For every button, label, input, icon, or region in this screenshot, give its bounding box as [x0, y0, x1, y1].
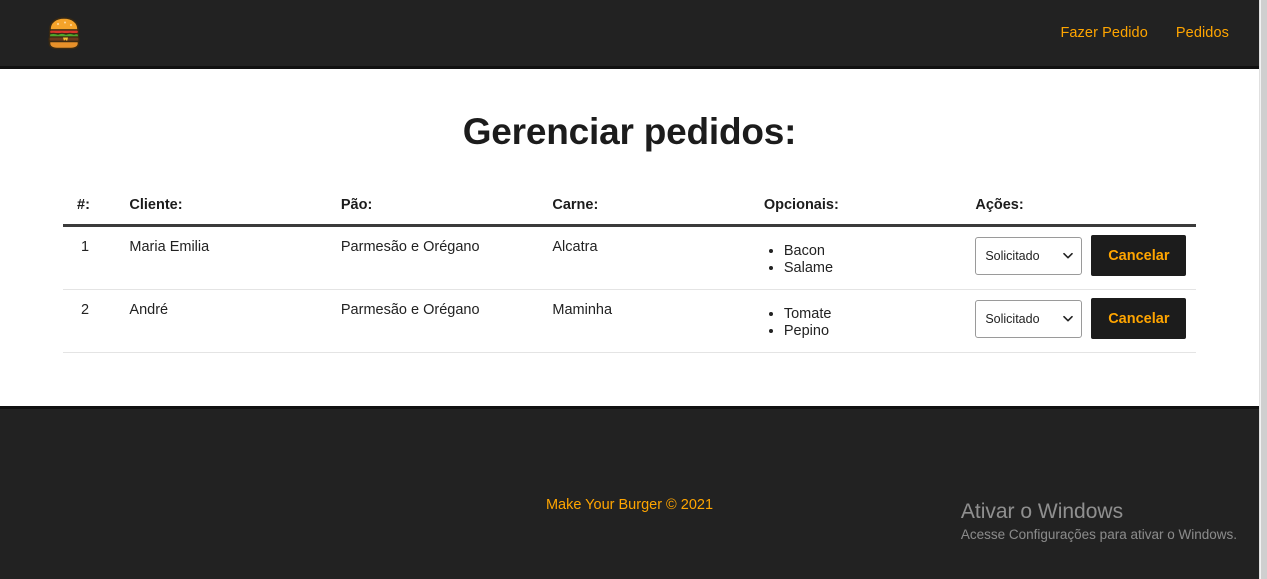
status-select-wrapper: Solicitado: [975, 300, 1082, 338]
table-row: 1 Maria Emilia Parmesão e Orégano Alcatr…: [63, 226, 1196, 290]
main-content: Gerenciar pedidos: #: Cliente: Pão: Carn…: [0, 69, 1259, 406]
cell-pao: Parmesão e Orégano: [333, 226, 544, 290]
nav-link-pedidos[interactable]: Pedidos: [1176, 25, 1229, 41]
scrollbar-thumb[interactable]: [1261, 0, 1267, 579]
orders-table: #: Cliente: Pão: Carne: Opcionais: Ações…: [63, 197, 1196, 353]
table-header-row: #: Cliente: Pão: Carne: Opcionais: Ações…: [63, 197, 1196, 226]
cancel-button[interactable]: Cancelar: [1091, 235, 1186, 276]
page-title: Gerenciar pedidos:: [0, 111, 1259, 153]
column-header-carne: Carne:: [544, 197, 755, 226]
browser-viewport: Fazer Pedido Pedidos Gerenciar pedidos: …: [0, 0, 1259, 579]
brand-logo-link[interactable]: [46, 15, 82, 51]
list-item: Pepino: [784, 323, 959, 340]
footer-copyright: Make Your Burger © 2021: [0, 409, 1259, 513]
orders-table-head: #: Cliente: Pão: Carne: Opcionais: Ações…: [63, 197, 1196, 226]
status-select[interactable]: Solicitado: [975, 300, 1082, 338]
burger-icon: [46, 15, 82, 51]
windows-activation-watermark: Ativar o Windows Acesse Configurações pa…: [961, 499, 1237, 546]
row-actions: Solicitado Cancelar: [975, 235, 1188, 276]
table-row: 2 André Parmesão e Orégano Maminha Tomat…: [63, 290, 1196, 353]
cell-pao: Parmesão e Orégano: [333, 290, 544, 353]
cell-order-index: 2: [63, 290, 121, 353]
column-header-acoes: Ações:: [967, 197, 1196, 226]
optionals-list: Tomate Pepino: [764, 306, 959, 340]
primary-nav: Fazer Pedido Pedidos: [1060, 25, 1229, 41]
row-actions: Solicitado Cancelar: [975, 298, 1188, 339]
cell-cliente: Maria Emilia: [121, 226, 332, 290]
status-select[interactable]: Solicitado: [975, 237, 1082, 275]
cell-acoes: Solicitado Cancelar: [967, 226, 1196, 290]
page-scrollbar[interactable]: [1259, 0, 1267, 579]
cell-acoes: Solicitado Cancelar: [967, 290, 1196, 353]
status-select-wrapper: Solicitado: [975, 237, 1082, 275]
list-item: Salame: [784, 260, 959, 277]
list-item: Bacon: [784, 243, 959, 260]
cell-opcionais: Tomate Pepino: [756, 290, 967, 353]
watermark-subtitle: Acesse Configurações para ativar o Windo…: [961, 525, 1237, 545]
site-header: Fazer Pedido Pedidos: [0, 0, 1259, 69]
column-header-pao: Pão:: [333, 197, 544, 226]
cancel-button[interactable]: Cancelar: [1091, 298, 1186, 339]
site-footer: Make Your Burger © 2021: [0, 406, 1259, 579]
list-item: Tomate: [784, 306, 959, 323]
cell-cliente: André: [121, 290, 332, 353]
orders-table-container: #: Cliente: Pão: Carne: Opcionais: Ações…: [63, 197, 1196, 353]
column-header-cliente: Cliente:: [121, 197, 332, 226]
cell-carne: Alcatra: [544, 226, 755, 290]
cell-opcionais: Bacon Salame: [756, 226, 967, 290]
optionals-list: Bacon Salame: [764, 243, 959, 277]
app-page: Fazer Pedido Pedidos Gerenciar pedidos: …: [0, 0, 1267, 579]
column-header-index: #:: [63, 197, 121, 226]
orders-table-body: 1 Maria Emilia Parmesão e Orégano Alcatr…: [63, 226, 1196, 353]
watermark-title: Ativar o Windows: [961, 499, 1237, 525]
cell-carne: Maminha: [544, 290, 755, 353]
cell-order-index: 1: [63, 226, 121, 290]
nav-link-fazer-pedido[interactable]: Fazer Pedido: [1060, 25, 1147, 41]
column-header-opcionais: Opcionais:: [756, 197, 967, 226]
